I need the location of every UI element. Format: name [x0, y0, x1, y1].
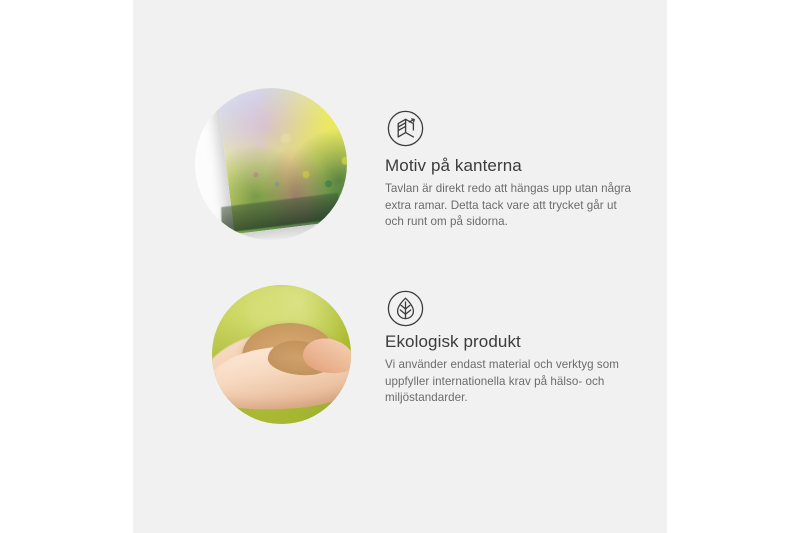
- wood-chips-hands-photo: [212, 285, 351, 424]
- canvas-corner-photo: [195, 88, 347, 240]
- content-panel: [133, 0, 667, 533]
- feature-title-2: Ekologisk produkt: [385, 332, 521, 352]
- canvas-wrap-arrow-icon: [387, 110, 424, 147]
- feature-title-1: Motiv på kanterna: [385, 156, 522, 176]
- leaf-icon: [387, 290, 424, 327]
- product-feature-banner: Motiv på kanterna Tavlan är direkt redo …: [0, 0, 800, 533]
- feature-description-1: Tavlan är direkt redo att hängas upp uta…: [385, 181, 637, 231]
- feature-description-2: Vi använder endast material och verktyg …: [385, 357, 637, 407]
